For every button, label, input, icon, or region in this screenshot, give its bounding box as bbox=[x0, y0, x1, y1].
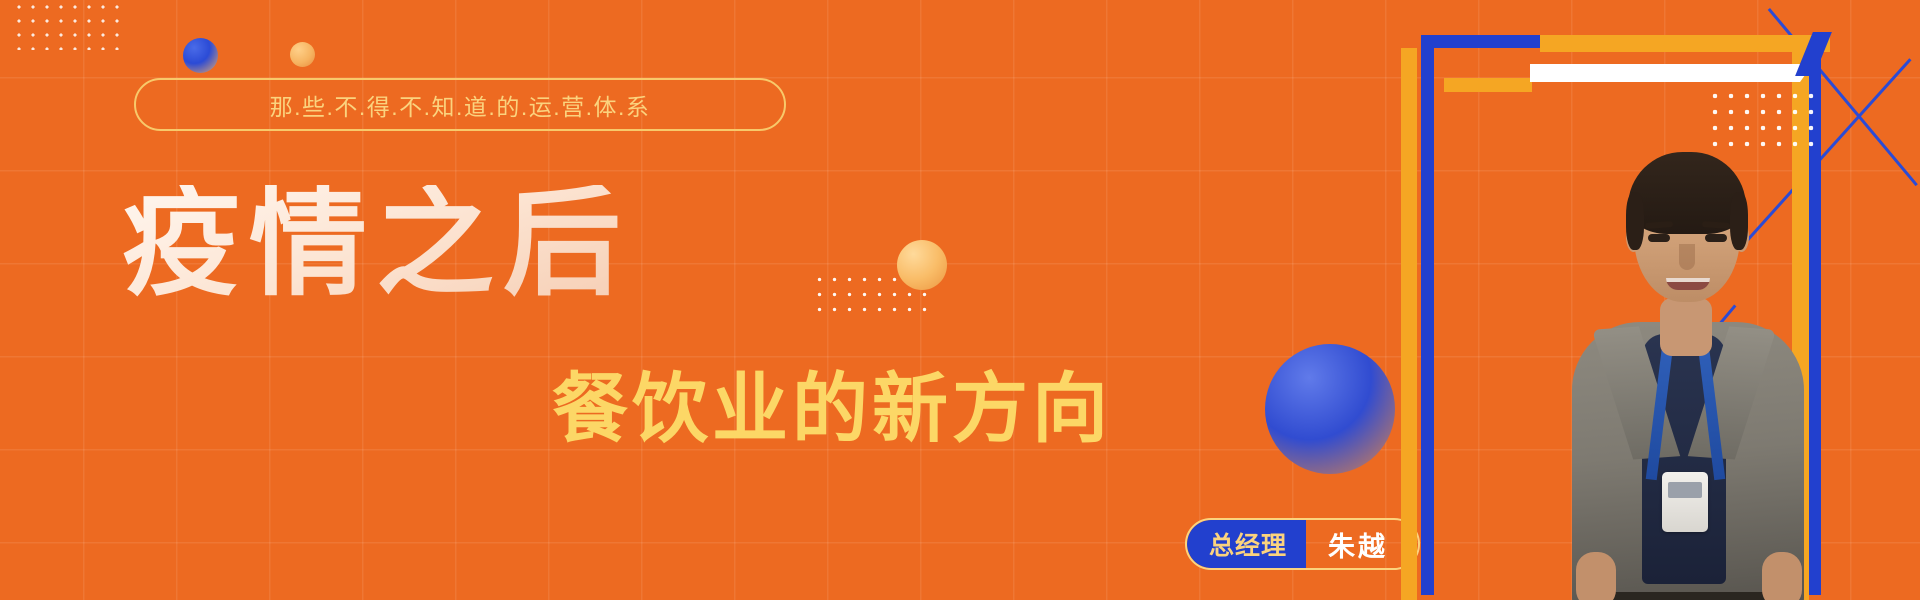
promo-banner: 那.些.不.得.不.知.道.的.运.营.体.系 疫情之后 餐饮业的新方向 总经理… bbox=[0, 0, 1920, 600]
tagline-text: 那.些.不.得.不.知.道.的.运.营.体.系 bbox=[270, 88, 651, 122]
avatar bbox=[1550, 52, 1822, 600]
portrait-hand-left bbox=[1576, 552, 1616, 600]
orange-sphere-icon-small bbox=[290, 42, 315, 67]
portrait-hair-side-right bbox=[1730, 192, 1748, 250]
portrait-eye-left bbox=[1648, 234, 1670, 242]
portrait-hair bbox=[1628, 152, 1746, 234]
portrait-eye-right bbox=[1705, 234, 1727, 242]
portrait-hair-side-left bbox=[1626, 192, 1644, 250]
tagline-pill: 那.些.不.得.不.知.道.的.运.营.体.系 bbox=[134, 78, 786, 131]
speaker-badge: 总经理 朱越 bbox=[1185, 518, 1420, 570]
page-subtitle: 餐饮业的新方向 bbox=[552, 372, 1112, 448]
frame-bar-orange-top bbox=[1540, 35, 1830, 52]
dot-pattern-icon-top-left bbox=[12, 0, 124, 50]
portrait-mouth bbox=[1666, 278, 1710, 290]
frame-bar-white bbox=[1530, 64, 1800, 82]
blue-sphere-icon-large bbox=[1265, 344, 1395, 474]
frame-bar-orange-left bbox=[1401, 48, 1417, 600]
blue-sphere-icon-small bbox=[183, 38, 218, 73]
portrait-neck bbox=[1660, 298, 1712, 356]
speaker-photo-frame bbox=[1400, 0, 1920, 600]
portrait-nose bbox=[1679, 244, 1695, 270]
frame-bar-orange-inner-left bbox=[1444, 78, 1532, 92]
page-title: 疫情之后 bbox=[122, 185, 630, 303]
portrait-belt bbox=[1610, 592, 1766, 600]
speaker-role-label: 总经理 bbox=[1187, 520, 1306, 568]
portrait-hand-right bbox=[1762, 552, 1802, 600]
orange-sphere-icon-medium bbox=[897, 240, 947, 290]
portrait-id-card bbox=[1662, 472, 1708, 532]
